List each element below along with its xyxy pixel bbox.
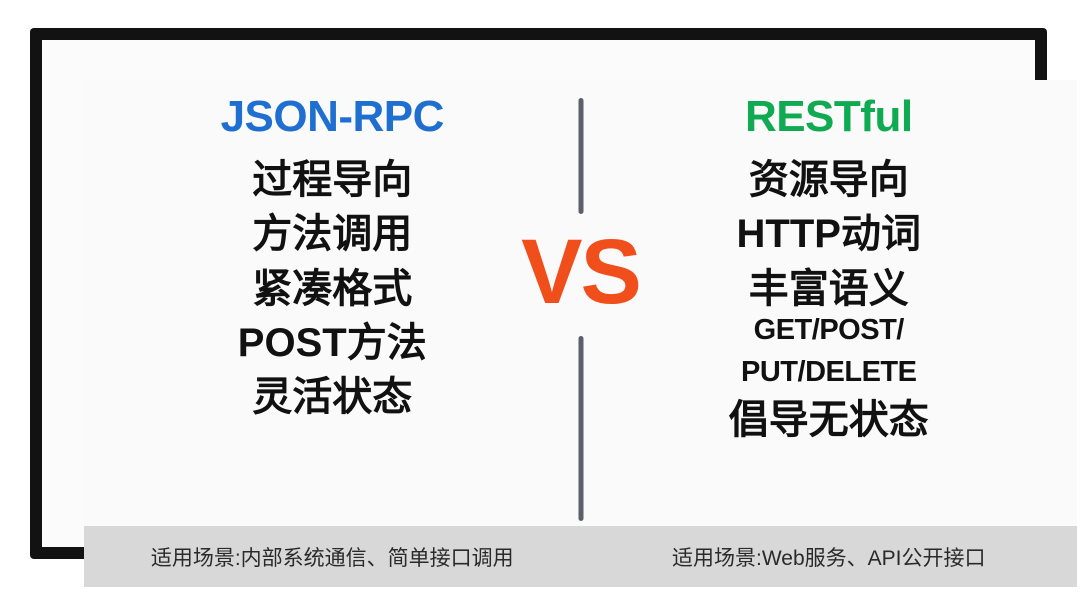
json-rpc-feature-5: 灵活状态 [252, 376, 412, 419]
vs-badge: VS [515, 226, 646, 318]
column-title-restful: RESTful [745, 94, 913, 140]
json-rpc-feature-1: 过程导向 [252, 159, 412, 202]
comparison-columns: JSON-RPC 过程导向 方法调用 紧凑格式 POST方法 灵活状态 REST… [84, 80, 1077, 526]
column-json-rpc: JSON-RPC 过程导向 方法调用 紧凑格式 POST方法 灵活状态 [84, 80, 581, 526]
restful-feature-2: HTTP动词 [737, 213, 921, 256]
restful-http-methods-line-1: GET/POST/ [754, 315, 904, 346]
restful-feature-1: 资源导向 [749, 159, 909, 202]
comparison-poster: JSON-RPC 过程导向 方法调用 紧凑格式 POST方法 灵活状态 REST… [0, 0, 1080, 596]
restful-feature-stateless: 倡导无状态 [729, 399, 929, 442]
restful-http-methods-line-2: PUT/DELETE [741, 357, 916, 388]
column-restful: RESTful 资源导向 HTTP动词 丰富语义 GET/POST/ PUT/D… [581, 80, 1078, 526]
json-rpc-feature-4: POST方法 [238, 322, 427, 365]
column-title-json-rpc: JSON-RPC [221, 94, 444, 140]
json-rpc-feature-2: 方法调用 [252, 213, 412, 256]
usage-json-rpc: 适用场景:内部系统通信、简单接口调用 [84, 542, 581, 572]
poster-inner-panel: JSON-RPC 过程导向 方法调用 紧凑格式 POST方法 灵活状态 REST… [84, 80, 1077, 587]
center-divider-bottom [578, 336, 583, 521]
usage-scenarios-band: 适用场景:内部系统通信、简单接口调用 适用场景:Web服务、API公开接口 [84, 526, 1077, 587]
usage-restful: 适用场景:Web服务、API公开接口 [581, 542, 1078, 572]
restful-feature-3: 丰富语义 [749, 268, 909, 311]
json-rpc-feature-3: 紧凑格式 [252, 268, 412, 311]
poster-frame: JSON-RPC 过程导向 方法调用 紧凑格式 POST方法 灵活状态 REST… [31, 29, 1046, 558]
center-divider-top [578, 98, 583, 214]
